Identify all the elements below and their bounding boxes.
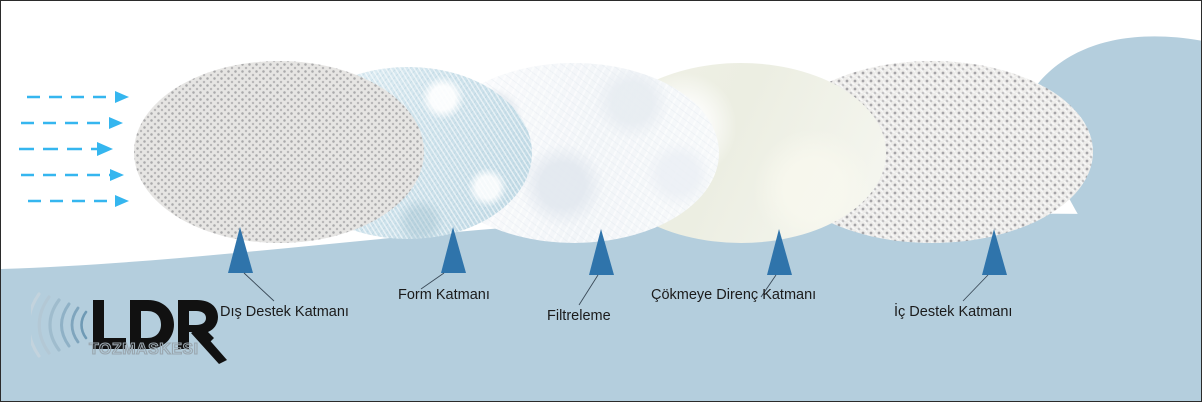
layer-label-3: Filtreleme — [547, 309, 611, 324]
leader-line-3 — [579, 275, 598, 305]
logo-tagline-text: TOZMASKESI — [89, 341, 199, 358]
brand-logo: TOZMASKESI — [31, 284, 227, 364]
pointer-arrow-icon-5 — [982, 229, 1007, 275]
leader-line-1 — [244, 273, 274, 301]
leader-line-5 — [963, 275, 988, 301]
mask-layer-diagram: Dış Destek Katmanı Form Katmanı Filtrele… — [0, 0, 1202, 402]
layer-label-2: Form Katmanı — [398, 288, 490, 303]
layer-label-5: İç Destek Katmanı — [894, 305, 1012, 320]
layer-label-4: Çökmeye Direnç Katmanı — [651, 288, 816, 303]
pointer-arrow-icon-2 — [441, 227, 466, 273]
layer-label-1: Dış Destek Katmanı — [220, 305, 349, 320]
sound-wave-icon — [31, 294, 86, 356]
pointer-arrow-icon-4 — [767, 229, 792, 275]
pointer-arrow-icon-3 — [589, 229, 614, 275]
pointer-arrow-icon-1 — [228, 227, 253, 273]
